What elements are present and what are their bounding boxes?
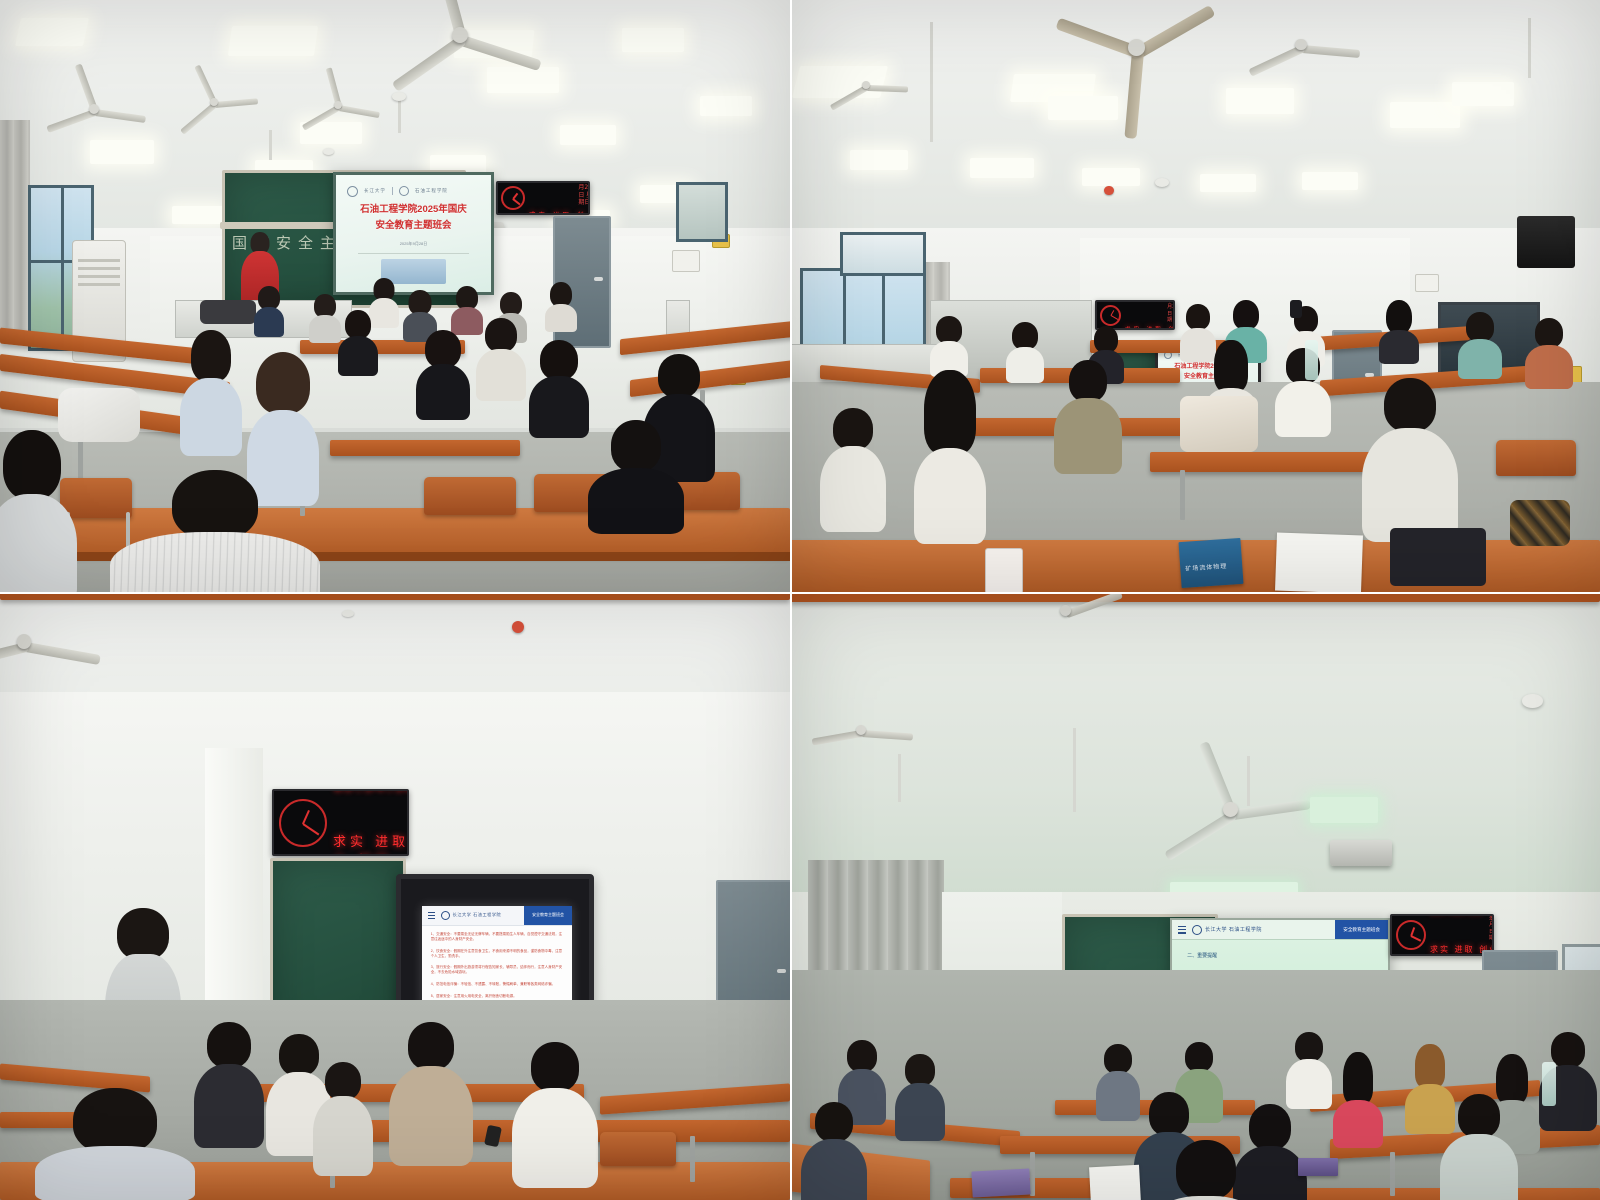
- student: [480, 318, 522, 394]
- led-panel-light: [1310, 797, 1378, 823]
- ceiling-fan: [455, 30, 465, 40]
- window-curtain: [0, 120, 30, 330]
- student: [1530, 318, 1568, 384]
- student: [1100, 1044, 1136, 1116]
- pillar: [205, 748, 263, 1028]
- student: [340, 310, 376, 370]
- student: [310, 294, 340, 338]
- smartphone: [985, 548, 1023, 592]
- ceiling-fan: [1063, 607, 1069, 613]
- ceiling-fan: [864, 83, 868, 87]
- university-seal-icon: [347, 186, 358, 197]
- led-clock-display: 09:49:59 2025年9月28日 星期日 求实 进取 创业 报国: [1390, 914, 1494, 956]
- led-panel-light: [850, 150, 908, 170]
- led-panel-light: [487, 67, 559, 93]
- student: [1382, 300, 1416, 358]
- student-foreground: [1162, 1140, 1250, 1200]
- document-sheet: [1275, 533, 1363, 592]
- student: [932, 316, 966, 370]
- panel-bottom-left: 09:54:58 2025年9月28日 星期日 求实 进取 创业 报国 长江大学…: [0, 592, 790, 1200]
- slide-org-right: 石油工程学院: [415, 188, 448, 194]
- led-panel-light: [970, 158, 1034, 178]
- chair[interactable]: [424, 477, 516, 515]
- ceiling-fan: [1131, 42, 1142, 53]
- led-panel-light: [792, 66, 888, 98]
- led-date: 2025年9月28日 星期日: [578, 181, 590, 207]
- book: [1298, 1158, 1338, 1176]
- led-panel-light: [622, 28, 684, 52]
- slide-header-bar: 长江大学 石油工程学院 安全教育主题班会: [422, 906, 572, 925]
- slide-title-page: 长江大学 石油工程学院 石油工程学院2025年国庆 安全教育主题班会 2025年…: [336, 175, 491, 292]
- student: [254, 286, 284, 332]
- divider: [358, 253, 470, 254]
- smoke-detector: [342, 610, 353, 617]
- student: [1462, 312, 1498, 374]
- student: [1410, 1044, 1450, 1130]
- slide-date: 2025年9月28日: [400, 241, 428, 247]
- student: [1280, 348, 1326, 434]
- student: [920, 370, 980, 540]
- panel-top-right: 长江大学 石油工程学院 石油工程学院2025年国庆 安全教育主题班会 2025年…: [790, 0, 1600, 592]
- student: [808, 1102, 860, 1200]
- chair[interactable]: [60, 478, 132, 518]
- led-motto: 求实 进取 创业 报国: [1125, 325, 1175, 330]
- university-seal-icon: [441, 911, 450, 920]
- student: [1450, 1094, 1508, 1200]
- ceiling-fan: [1298, 42, 1304, 48]
- ceiling-fan: [858, 727, 863, 732]
- student: [1290, 1032, 1328, 1106]
- student: [1376, 378, 1444, 538]
- student: [320, 1062, 366, 1172]
- student: [452, 286, 482, 332]
- student: [600, 420, 672, 520]
- menu-icon[interactable]: [1178, 926, 1186, 934]
- desk-leg: [1180, 470, 1185, 520]
- college-seal-icon: [399, 186, 409, 196]
- led-panel-light: [1226, 88, 1294, 114]
- projector-screen: 长江大学 石油工程学院 石油工程学院2025年国庆 安全教育主题班会 2025年…: [333, 172, 494, 295]
- chair[interactable]: [1496, 440, 1576, 476]
- analog-clock-icon: [1396, 920, 1426, 950]
- desk-leg: [1030, 1152, 1035, 1196]
- divider: [392, 187, 393, 195]
- speaker-box: [1517, 216, 1575, 268]
- student: [1008, 322, 1042, 376]
- hanging-rod: [1073, 728, 1076, 812]
- window-upper: [840, 232, 926, 276]
- handbag: [1510, 500, 1570, 546]
- collage-seam-vertical: [790, 0, 792, 1200]
- led-clock-display: 09:51:49 2025年9月28日 星期日 求实 进取 创业 报国: [496, 181, 590, 215]
- university-seal-icon: [1192, 925, 1202, 935]
- window: [676, 182, 728, 242]
- water-bottle: [1542, 1062, 1556, 1106]
- book-on-desk: 矿场流体物理: [1178, 538, 1243, 588]
- smoke-detector: [1155, 178, 1169, 187]
- slide-tab[interactable]: 安全教育主题班会: [524, 906, 572, 924]
- analog-clock-icon: [1100, 305, 1121, 326]
- ceiling-fan: [336, 103, 340, 107]
- slide-line: 2、饮食安全：假期在外注意饮食卫生，不食用来源不明的食品，谨防食物中毒，注意个人…: [431, 949, 563, 959]
- slide-title-line2: 安全教育主题班会: [375, 219, 451, 233]
- tablet-case: [1390, 528, 1486, 586]
- led-panel-light: [172, 206, 224, 224]
- led-panel-light: [90, 140, 154, 164]
- led-panel-light: [228, 26, 318, 56]
- led-time: 09:54:58: [333, 789, 409, 796]
- hanging-rod: [930, 22, 933, 142]
- desk-leg: [690, 1136, 695, 1182]
- fan-rod: [269, 130, 272, 160]
- slide-org-left: 长江大学: [364, 188, 386, 194]
- fire-alarm: [1104, 186, 1114, 196]
- slide-line: 3、旅行安全：假期外出旅游须将行程告知家长、辅导员，结伴而行，注意人身财产安全，…: [431, 965, 563, 975]
- book: [971, 1169, 1030, 1198]
- led-panel-light: [700, 96, 752, 116]
- collage-seam-horizontal: [0, 592, 1600, 594]
- hanging-rod: [1528, 18, 1531, 78]
- ceiling-projector: [1330, 840, 1392, 866]
- panel-bottom-right: 长江大学 石油工程学院 安全教育主题班会 二、重要提醒 1、请各位同学人身安全放…: [790, 592, 1600, 1200]
- student: [1242, 1104, 1298, 1200]
- backpack: [1180, 396, 1258, 452]
- slide-header-bar: 长江大学 石油工程学院 安全教育主题班会: [1172, 920, 1388, 940]
- slide-tab[interactable]: 安全教育主题班会: [1335, 920, 1388, 939]
- book-title: 矿场流体物理: [1185, 561, 1228, 573]
- ceiling-fan: [212, 100, 216, 104]
- water-bottle: [1305, 340, 1318, 380]
- student: [900, 1054, 940, 1136]
- student: [400, 1022, 462, 1162]
- slide-brand: 长江大学 石油工程学院: [1205, 926, 1262, 933]
- led-motto: 求实 进取 创业 报国: [333, 831, 409, 856]
- led-panel-light: [1082, 168, 1140, 186]
- ceiling-fan: [20, 638, 27, 645]
- slide-line: 1、交通安全：不要乘坐无证无牌车辆，不要搭乘陌生人车辆，自觉遵守交通法规，注意往…: [431, 932, 563, 942]
- led-panel-light: [1302, 172, 1358, 190]
- wall-notice: [672, 250, 700, 272]
- analog-clock-icon: [279, 799, 327, 847]
- menu-icon[interactable]: [428, 912, 435, 920]
- student: [1062, 360, 1114, 470]
- student-foreground: [60, 1088, 170, 1192]
- panel-top-left: 国庆安全主题 长江大学 石油工程学院 石油工程学院2025年国庆 安全教育主题班…: [0, 0, 790, 592]
- slide-heading: 二、重要提醒: [1187, 953, 1373, 961]
- bag: [200, 300, 256, 324]
- smoke-detector: [1522, 694, 1543, 708]
- led-panel-light: [1452, 82, 1514, 106]
- ceiling-fan: [1227, 806, 1235, 814]
- chair[interactable]: [600, 1132, 676, 1166]
- ceiling-fan: [92, 107, 97, 112]
- student: [202, 1022, 256, 1142]
- slide-line: 4、防范电信诈骗：不轻信、不透露、不转账，警惕刷单、兼职等各类网络诈骗。: [431, 982, 563, 987]
- student: [546, 282, 576, 328]
- hanging-rod: [898, 754, 901, 802]
- slide-line: 5、居家安全：注意用火用电安全，离开宿舍切断电源。: [431, 994, 563, 999]
- led-panel-light: [15, 18, 89, 46]
- led-clock-display[interactable]: 09:54:58 2025年9月28日 星期日 求实 进取 创业 报国: [272, 789, 409, 856]
- hanging-rod: [1247, 756, 1250, 806]
- desk-row: [1270, 1188, 1600, 1200]
- led-time: 09:49:59: [1430, 914, 1483, 917]
- led-date: 2025年9月28日 星期日: [1167, 300, 1175, 323]
- student: [534, 340, 584, 432]
- led-date: 2025年9月28日 星期日: [1489, 914, 1494, 941]
- led-motto: 求实 进取 创业 报国: [529, 209, 590, 215]
- student-foreground: [150, 470, 280, 592]
- slide-title-line1: 石油工程学院2025年国庆: [360, 203, 467, 217]
- wall-notice: [1415, 274, 1439, 292]
- photo-collage: 国庆安全主题 长江大学 石油工程学院 石油工程学院2025年国庆 安全教育主题班…: [0, 0, 1600, 1200]
- student: [420, 330, 466, 414]
- student: [1338, 1052, 1378, 1144]
- analog-clock-icon: [501, 186, 525, 210]
- fire-alarm: [512, 621, 524, 633]
- student-foreground: [0, 430, 64, 592]
- led-panel-light: [1048, 96, 1118, 120]
- led-panel-light: [1200, 174, 1256, 192]
- smoke-detector: [392, 92, 406, 101]
- student: [186, 330, 236, 450]
- smartphone: [1290, 300, 1302, 318]
- backpack: [58, 388, 140, 442]
- led-panel-light: [1390, 102, 1460, 128]
- student: [524, 1042, 586, 1184]
- student: [828, 408, 878, 528]
- led-panel-light: [560, 125, 616, 145]
- desk-leg: [1390, 1152, 1395, 1196]
- slide-logo-bar: 长江大学 石油工程学院: [347, 186, 448, 197]
- desk-row: [330, 440, 520, 456]
- document-sheet: [1089, 1165, 1141, 1200]
- slide-brand: 长江大学 石油工程学院: [453, 912, 502, 918]
